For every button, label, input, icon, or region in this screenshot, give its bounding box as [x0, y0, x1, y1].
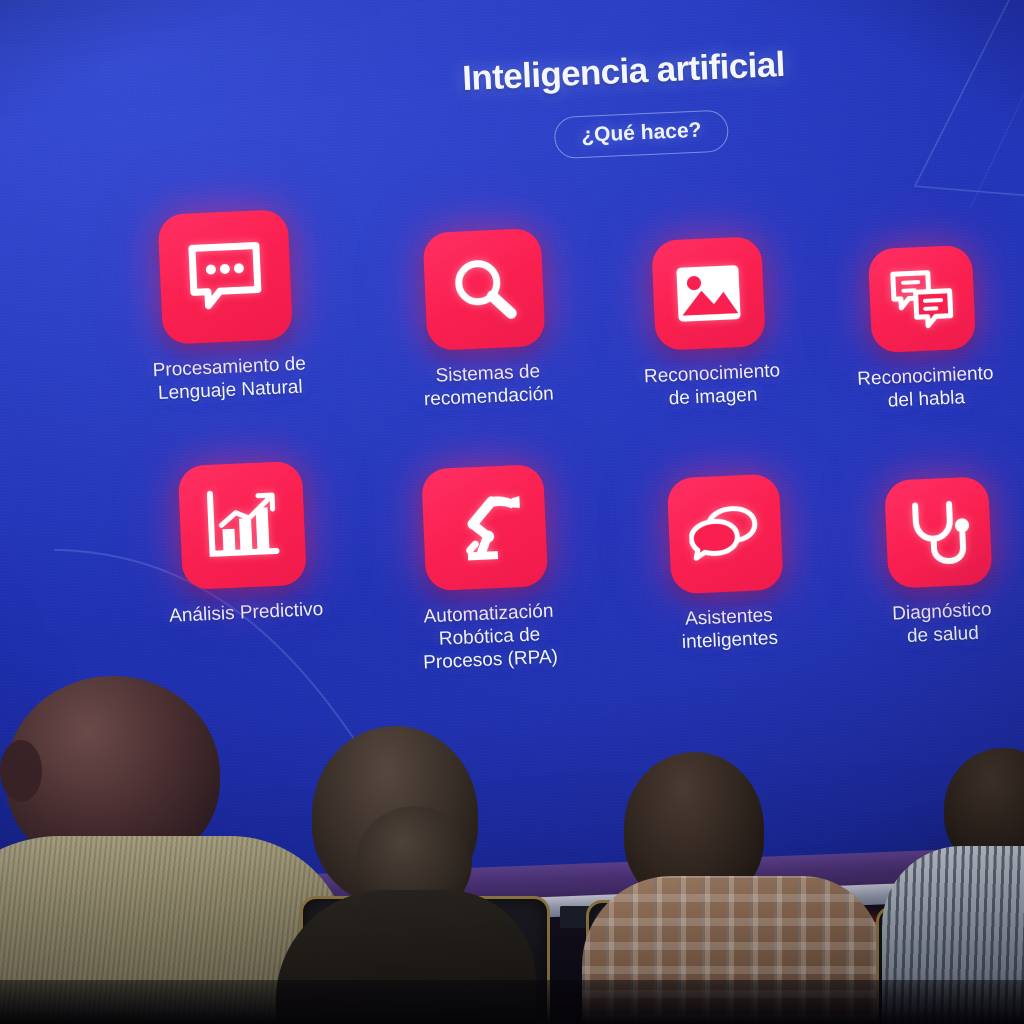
photo-scene: Inteligencia artificial ¿Qué hace? Proce…: [0, 0, 1024, 1024]
foreground-shadow: [0, 980, 1024, 1024]
ear: [0, 740, 42, 802]
